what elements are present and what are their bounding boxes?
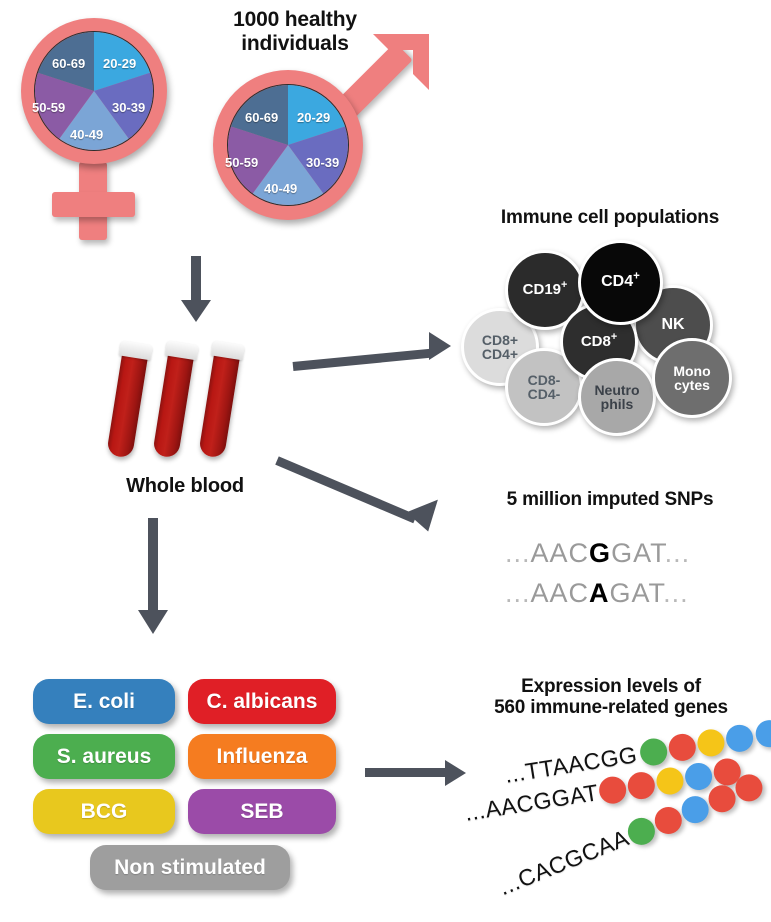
stimulus-c-albicans[interactable]: C. albicans [188,679,336,724]
immune-title: Immune cell populations [455,207,765,228]
female-slice-label-50-59: 50-59 [32,100,65,115]
arrow-cohort-to-blood-head [181,300,211,322]
immune-cells-group: CD19+ CD4+ CD8+ CD4+ CD8+ NK CD8- CD4- N… [455,240,771,420]
male-symbol: 20-29 30-39 40-49 50-59 60-69 [205,28,425,243]
stimulus-influenza[interactable]: Influenza [188,734,336,779]
arrow-blood-to-immune-head [429,332,451,360]
stimulus-seb[interactable]: SEB [188,789,336,834]
snps-title: 5 million imputed SNPs [455,489,765,510]
expression-bead [626,770,657,801]
blood-tubes-group [118,340,268,475]
immune-cell-cd4: CD4+ [578,240,663,325]
arrow-blood-to-stimuli-line [148,518,158,614]
stimulus-e-coli[interactable]: E. coli [33,679,175,724]
expression-strand-sequence: ...CACGCAA [495,824,633,901]
blood-tube [151,341,195,464]
blood-tube [197,341,241,464]
arrow-cohort-to-blood-line [191,256,201,304]
expression-bead [638,737,669,768]
expression-bead [654,766,685,797]
expression-bead [666,732,697,763]
expression-bead [753,718,771,749]
arrow-stimuli-to-expression-line [365,768,447,777]
snp-variant-allele: A [589,578,610,608]
male-slice-label-20-29: 20-29 [297,110,330,125]
female-slice-label-30-39: 30-39 [112,100,145,115]
male-slice-label-30-39: 30-39 [306,155,339,170]
blood-tube-body [106,352,148,459]
expression-title: Expression levels of 560 immune-related … [455,676,767,719]
expression-bead [597,775,628,806]
female-slice-label-20-29: 20-29 [103,56,136,71]
immune-cell-neutrophils: Neutro phils [578,358,656,436]
stimulus-bcg[interactable]: BCG [33,789,175,834]
blood-tube-body [198,352,240,459]
arrow-blood-to-immune-line [293,349,433,371]
blood-tube-body [152,352,194,459]
male-slice-label-60-69: 60-69 [245,110,278,125]
expression-strand-sequence: ...AACGGAT [463,779,600,827]
blood-label: Whole blood [70,475,300,497]
arrow-stimuli-to-expression-head [445,760,466,786]
arrow-blood-to-snps-head [406,500,447,537]
immune-cell-monocytes: Mono cytes [652,338,732,418]
stimulus-s-aureus[interactable]: S. aureus [33,734,175,779]
female-slice-label-40-49: 40-49 [70,127,103,142]
female-symbol: 20-29 30-39 40-49 50-59 60-69 [8,12,198,237]
arrow-blood-to-stimuli-head [138,610,168,634]
expression-bead [695,727,726,758]
expression-bead [683,761,714,792]
male-slice-label-40-49: 40-49 [264,181,297,196]
expression-bead [724,723,755,754]
male-slice-label-50-59: 50-59 [225,155,258,170]
blood-tube [105,341,149,464]
snp-sequence-row: ...AACGGAT... [505,538,690,569]
male-symbol-arrowhead [355,28,435,108]
stimulus-non-stimulated[interactable]: Non stimulated [90,845,290,890]
figure-canvas: 1000 healthy individuals 20-29 30-39 40-… [0,0,771,922]
female-symbol-cross [52,192,135,217]
female-slice-label-60-69: 60-69 [52,56,85,71]
snp-variant-allele: G [589,538,611,568]
snp-sequence-row: ...AACAGAT... [505,578,689,609]
